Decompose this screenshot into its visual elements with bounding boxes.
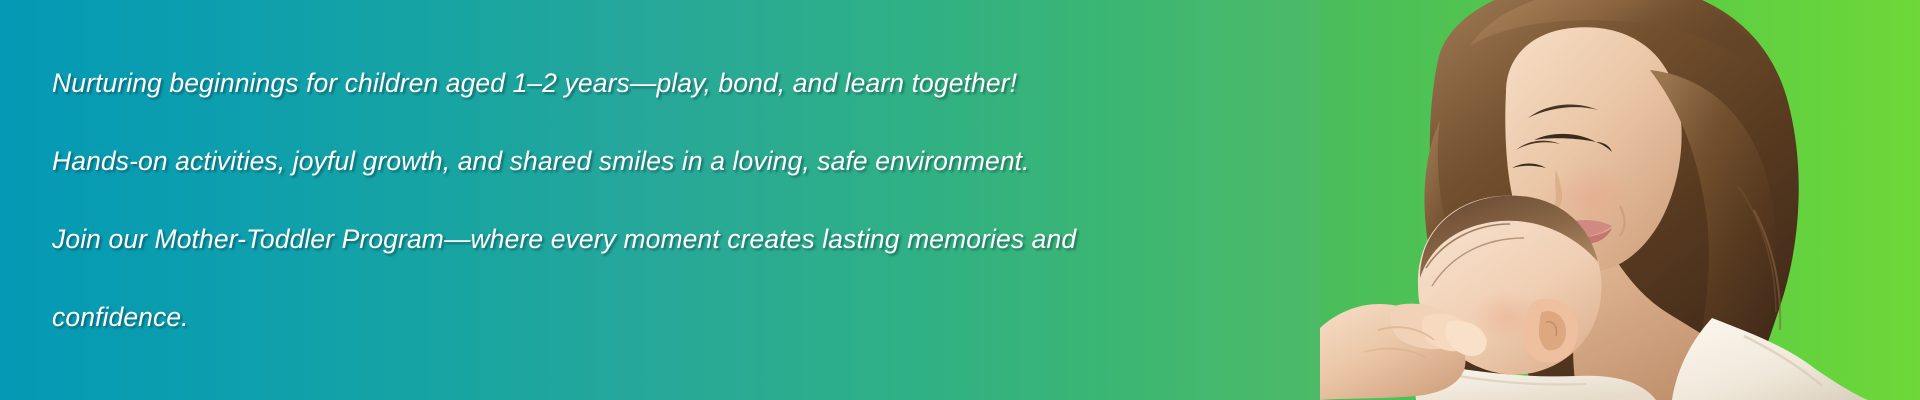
banner-copy: Nurturing beginnings for children aged 1…	[52, 0, 1112, 400]
photo-alt-text: Mother holding sleeping baby against her…	[0, 0, 1, 1]
banner-line-3: Join our Mother-Toddler Program—where ev…	[52, 200, 1112, 356]
mother-and-baby-photo	[1320, 0, 1920, 400]
banner-line-2: Hands-on activities, joyful growth, and …	[52, 122, 1112, 200]
banner-line-1: Nurturing beginnings for children aged 1…	[52, 44, 1112, 122]
promo-banner: Nurturing beginnings for children aged 1…	[0, 0, 1920, 400]
